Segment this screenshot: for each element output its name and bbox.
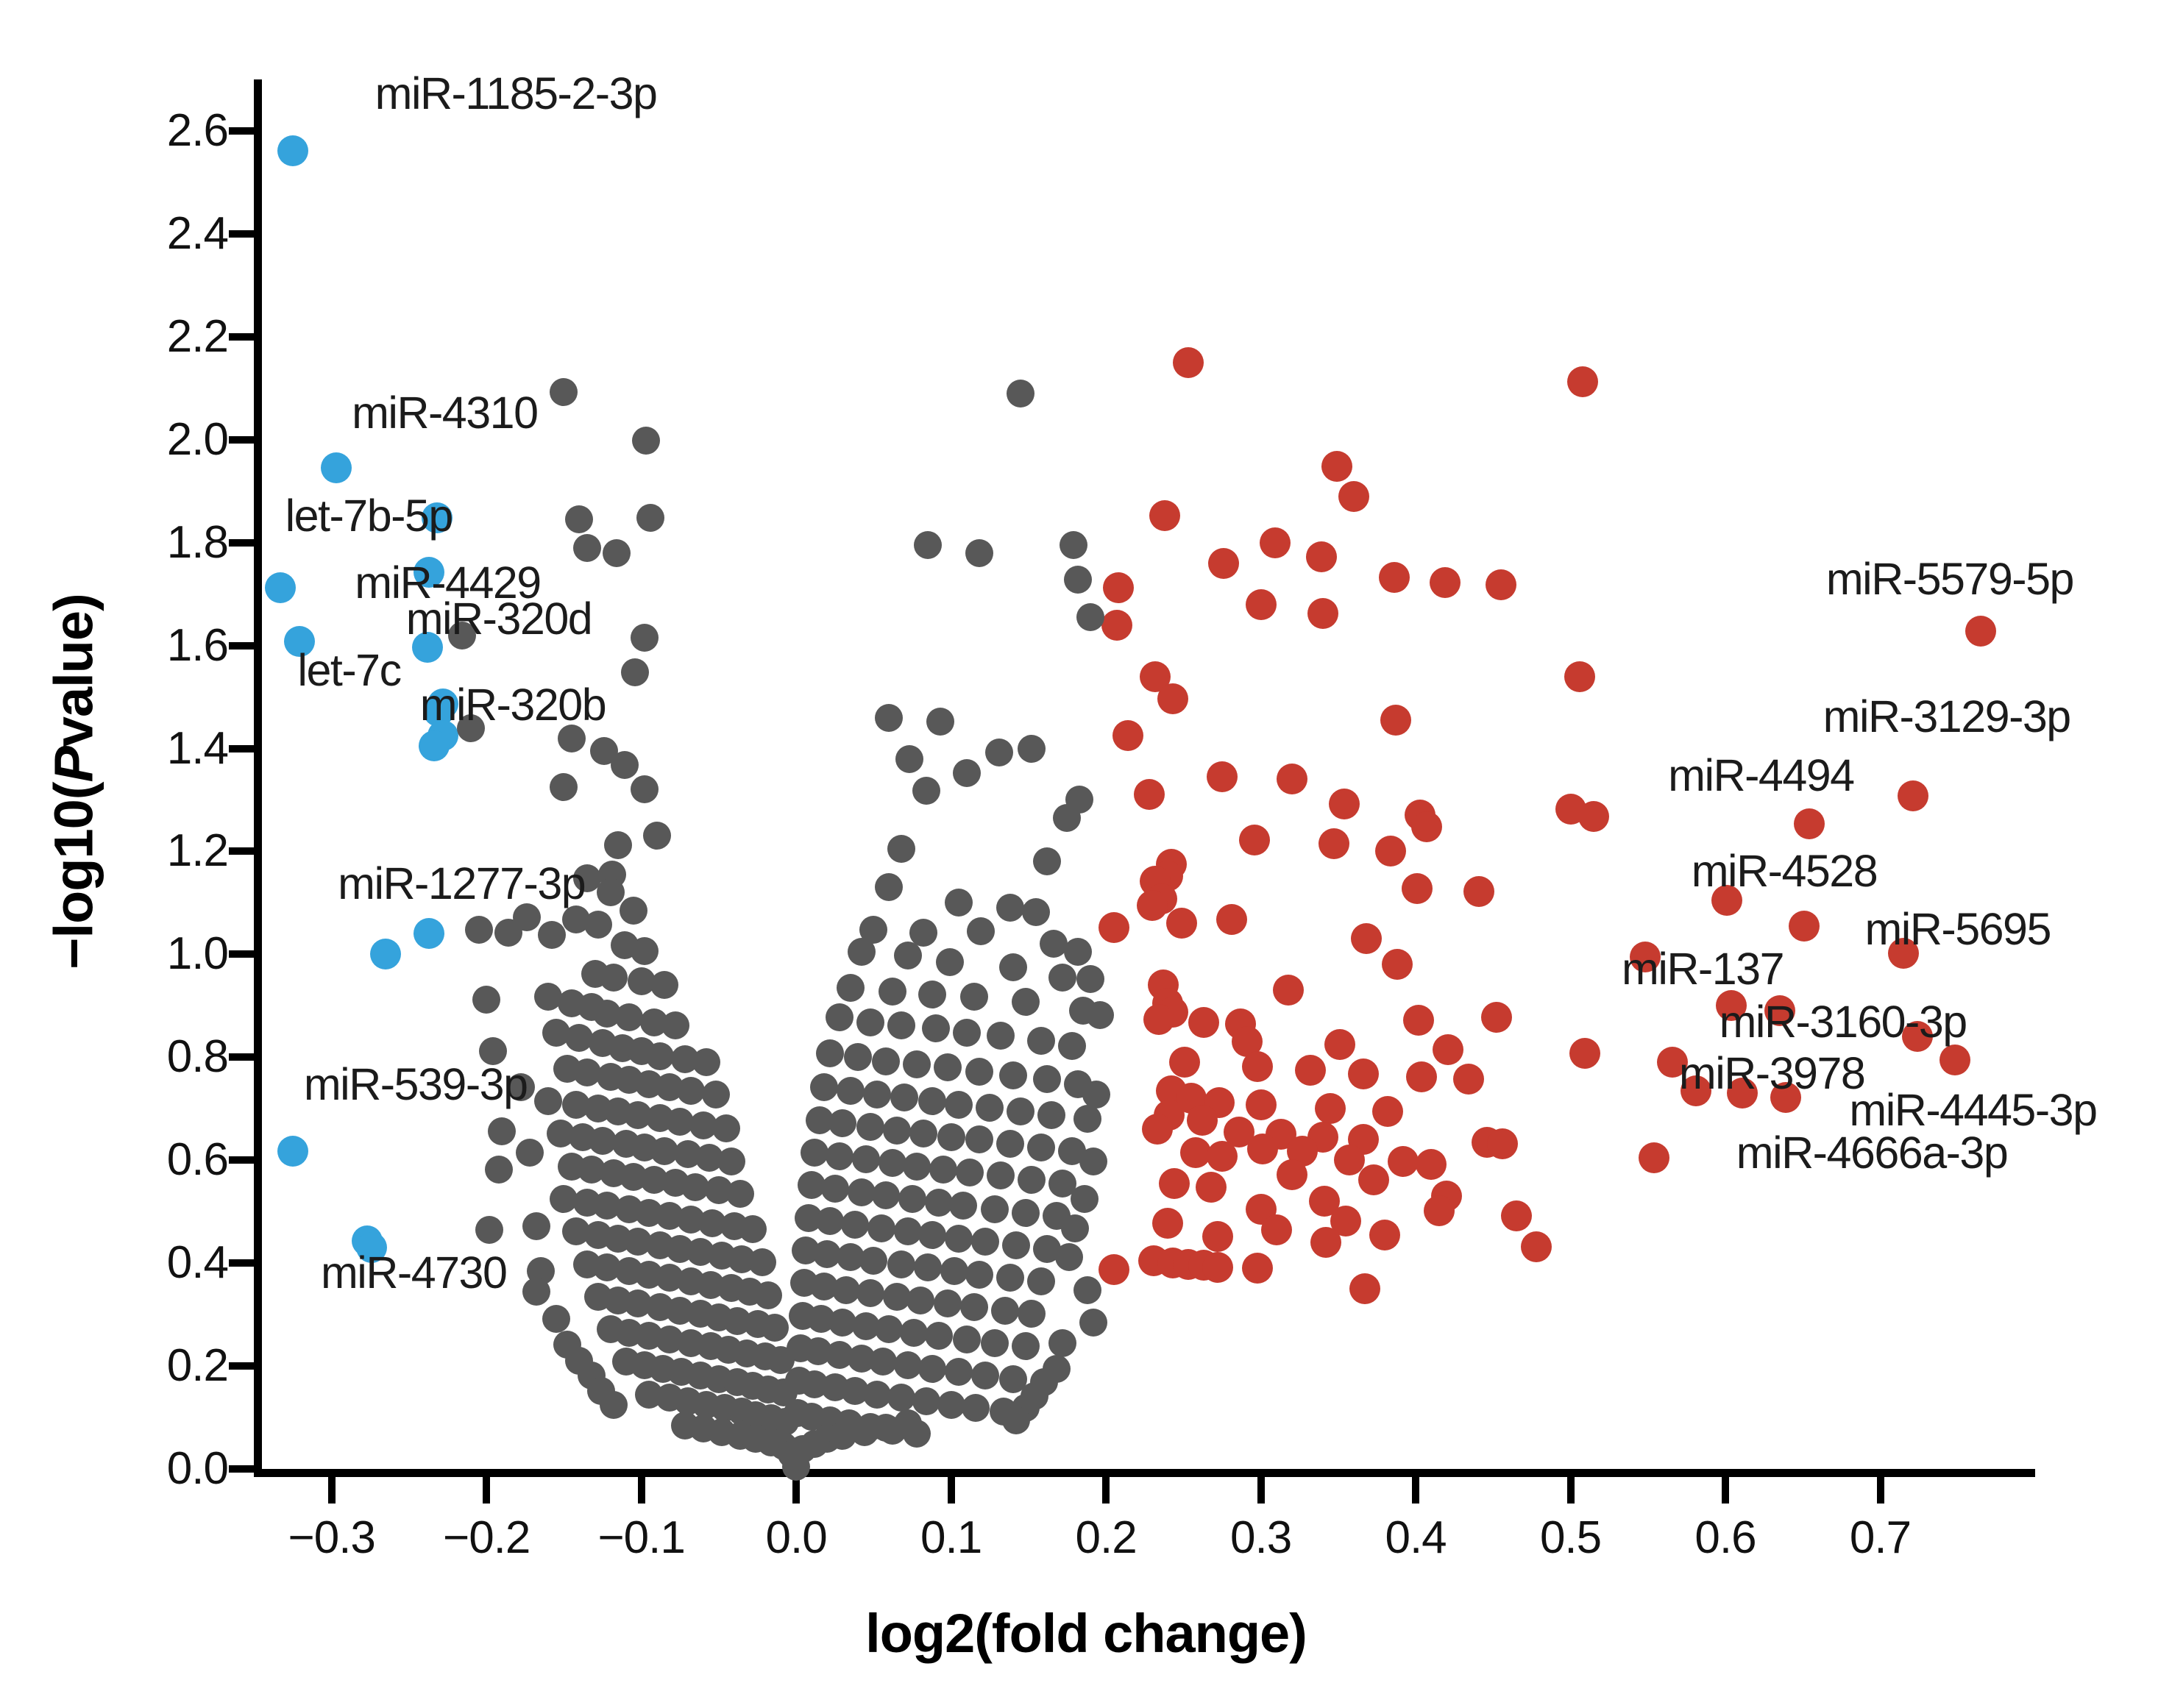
scatter-point <box>887 1011 915 1039</box>
scatter-point <box>1060 531 1087 559</box>
y-tick-mark <box>229 642 255 650</box>
scatter-point <box>1048 964 1076 992</box>
scatter-point <box>1169 1047 1200 1078</box>
scatter-point <box>1002 1231 1030 1259</box>
scatter-point <box>1242 1051 1273 1082</box>
x-tick-label: −0.2 <box>398 1512 575 1564</box>
scatter-point <box>1188 1007 1219 1038</box>
scatter-point <box>926 708 954 736</box>
scatter-point <box>632 427 660 455</box>
scatter-point <box>1007 1097 1034 1125</box>
scatter-point <box>945 1091 973 1119</box>
y-axis-title: −log10(Pvalue) <box>43 267 105 1297</box>
scatter-point <box>1012 988 1040 1016</box>
x-tick-mark <box>1412 1477 1419 1504</box>
scatter-point <box>277 1136 308 1167</box>
scatter-point <box>677 1077 705 1105</box>
x-tick-mark <box>1567 1477 1575 1504</box>
scatter-point <box>837 1077 865 1105</box>
x-tick-mark <box>638 1477 645 1504</box>
scatter-point <box>929 1156 957 1184</box>
scatter-point <box>643 822 671 850</box>
scatter-point <box>1789 911 1820 942</box>
scatter-point <box>534 1087 562 1115</box>
scatter-point <box>987 1022 1015 1050</box>
scatter-point <box>600 1391 628 1419</box>
x-tick-label: 0.3 <box>1173 1512 1349 1564</box>
scatter-point <box>898 1185 926 1213</box>
scatter-point <box>475 1216 503 1244</box>
scatter-point <box>621 658 649 686</box>
scatter-point <box>1277 764 1307 794</box>
point-label: miR-1277-3p <box>338 858 585 909</box>
scatter-point <box>1166 908 1197 939</box>
scatter-point <box>1247 1134 1278 1164</box>
point-label: let-7b-5p <box>285 490 452 541</box>
scatter-point <box>1246 589 1277 620</box>
y-tick-label: 2.4 <box>44 207 228 260</box>
scatter-point <box>826 1003 853 1031</box>
scatter-point <box>934 1053 962 1081</box>
x-axis-title: log2(fold change) <box>0 1602 2172 1665</box>
scatter-point <box>879 1149 906 1177</box>
scatter-point <box>534 983 562 1011</box>
scatter-point <box>1939 1045 1970 1075</box>
scatter-point <box>321 452 352 483</box>
scatter-point <box>863 1081 891 1109</box>
scatter-point <box>1402 873 1433 904</box>
x-tick-label: 0.0 <box>708 1512 884 1564</box>
scatter-point <box>1012 1199 1040 1227</box>
scatter-point <box>1351 923 1382 954</box>
scatter-point <box>1794 808 1825 839</box>
scatter-point <box>485 1156 513 1184</box>
scatter-point <box>953 759 981 787</box>
scatter-point <box>828 1109 856 1137</box>
scatter-point <box>996 1264 1024 1292</box>
scatter-point <box>856 1279 884 1307</box>
scatter-point <box>1521 1231 1552 1262</box>
x-tick-label: 0.2 <box>1018 1512 1194 1564</box>
scatter-point <box>934 1289 962 1317</box>
scatter-point <box>960 983 988 1011</box>
scatter-point <box>1055 1243 1083 1271</box>
scatter-point <box>1567 366 1598 397</box>
scatter-point <box>918 1087 946 1115</box>
y-tick-mark <box>229 436 255 444</box>
y-tick-label: 0.0 <box>44 1442 228 1495</box>
x-tick-mark <box>1102 1477 1110 1504</box>
scatter-point <box>1295 1055 1326 1086</box>
scatter-point <box>542 1305 570 1333</box>
x-tick-mark <box>948 1477 955 1504</box>
scatter-point <box>844 1043 872 1071</box>
scatter-point <box>914 1253 942 1281</box>
scatter-point <box>1369 1220 1400 1250</box>
scatter-point <box>1242 1253 1273 1284</box>
scatter-point <box>1348 1058 1379 1089</box>
scatter-point <box>1639 1142 1669 1173</box>
scatter-point <box>940 1257 968 1285</box>
scatter-point <box>1027 1267 1055 1295</box>
scatter-point <box>872 1047 900 1075</box>
scatter-point <box>875 873 903 901</box>
scatter-point <box>1207 1141 1238 1172</box>
scatter-point <box>987 1161 1015 1189</box>
scatter-point <box>712 1114 740 1142</box>
scatter-point <box>1018 1300 1046 1328</box>
scatter-point <box>1307 598 1338 629</box>
scatter-point <box>650 971 678 999</box>
scatter-point <box>918 981 946 1008</box>
scatter-point <box>945 889 973 917</box>
scatter-point <box>584 911 612 939</box>
scatter-point <box>1379 562 1410 593</box>
scatter-point <box>1071 1185 1099 1213</box>
scatter-point <box>856 1113 884 1141</box>
scatter-point <box>1564 661 1595 692</box>
scatter-point <box>1375 836 1406 867</box>
scatter-point <box>1403 1005 1434 1036</box>
scatter-point <box>1277 1159 1307 1190</box>
scatter-point <box>550 773 578 801</box>
scatter-point <box>1101 610 1132 641</box>
scatter-point <box>848 1178 876 1206</box>
scatter-point <box>1064 938 1092 966</box>
scatter-point <box>887 1250 915 1278</box>
scatter-point <box>883 1117 911 1145</box>
scatter-point <box>981 1195 1009 1223</box>
scatter-point <box>832 1276 860 1304</box>
scatter-point <box>636 504 664 532</box>
y-tick-mark <box>229 127 255 135</box>
scatter-point <box>565 505 593 533</box>
scatter-point <box>1012 1332 1040 1360</box>
scatter-point <box>1246 1089 1277 1120</box>
scatter-point <box>895 745 923 773</box>
scatter-point <box>962 1394 990 1422</box>
scatter-point <box>918 1355 946 1383</box>
scatter-point <box>1207 761 1238 792</box>
scatter-point <box>754 1281 782 1309</box>
scatter-point <box>1079 1147 1107 1175</box>
scatter-point <box>1064 566 1092 594</box>
scatter-point <box>1173 347 1204 378</box>
scatter-point <box>1501 1200 1532 1231</box>
y-axis-title-suffix: value) <box>43 594 104 747</box>
y-tick-mark <box>229 539 255 547</box>
scatter-point <box>1382 949 1413 980</box>
scatter-point <box>603 539 631 567</box>
scatter-point <box>1430 567 1461 598</box>
scatter-point <box>925 1322 953 1350</box>
scatter-point <box>863 1381 891 1409</box>
point-label: miR-320b <box>420 679 606 730</box>
scatter-point <box>894 1351 922 1379</box>
x-tick-mark <box>328 1477 336 1504</box>
scatter-point <box>1048 1329 1076 1357</box>
scatter-point <box>522 1278 550 1306</box>
y-tick-mark <box>229 745 255 752</box>
scatter-point <box>1152 1208 1183 1239</box>
scatter-point <box>867 1214 895 1242</box>
scatter-point <box>985 739 1013 766</box>
scatter-point <box>967 917 995 945</box>
scatter-point <box>1372 1096 1403 1127</box>
scatter-point <box>739 1215 767 1243</box>
scatter-point <box>1319 828 1349 859</box>
scatter-point <box>945 1358 973 1386</box>
scatter-point <box>869 1348 897 1376</box>
scatter-point <box>465 916 493 944</box>
point-label: miR-539-3p <box>304 1058 528 1110</box>
y-tick-label: 2.6 <box>44 104 228 157</box>
scatter-point <box>999 953 1027 981</box>
scatter-point <box>976 1094 1004 1122</box>
scatter-point <box>1033 1065 1061 1093</box>
scatter-point <box>1157 683 1188 714</box>
y-tick-mark <box>229 1465 255 1473</box>
scatter-point <box>1027 1134 1055 1161</box>
scatter-point <box>887 835 915 863</box>
point-label: miR-3160-3p <box>1719 996 1967 1047</box>
scatter-point <box>837 974 865 1002</box>
scatter-point <box>600 964 628 992</box>
scatter-point <box>1137 890 1168 921</box>
scatter-point <box>945 1225 973 1253</box>
scatter-point <box>1324 1029 1355 1060</box>
scatter-point <box>1898 780 1928 811</box>
point-label: miR-4310 <box>352 387 537 438</box>
scatter-point <box>894 1217 922 1245</box>
scatter-point <box>661 1011 689 1039</box>
scatter-point <box>1315 1093 1346 1124</box>
scatter-point <box>801 1139 828 1167</box>
scatter-point <box>852 1145 880 1173</box>
scatter-point <box>887 1384 915 1412</box>
scatter-point <box>912 1387 940 1415</box>
scatter-point <box>516 1139 544 1167</box>
scatter-point <box>894 942 922 969</box>
scatter-point <box>996 1130 1024 1158</box>
scatter-point <box>999 1061 1027 1089</box>
scatter-point <box>821 1175 849 1203</box>
scatter-point <box>573 534 601 562</box>
scatter-point <box>1406 1061 1437 1092</box>
scatter-point <box>1273 975 1304 1006</box>
point-label: miR-5579-5p <box>1826 553 2073 605</box>
scatter-point <box>1380 705 1411 736</box>
scatter-point <box>1424 1195 1455 1226</box>
scatter-point <box>816 1039 844 1067</box>
scatter-point <box>1349 1273 1380 1304</box>
scatter-point <box>936 948 964 976</box>
y-tick-mark <box>229 950 255 958</box>
scatter-point <box>1099 912 1129 943</box>
point-label: miR-5695 <box>1864 903 2050 955</box>
scatter-point <box>748 1248 776 1276</box>
scatter-point <box>1187 1105 1218 1136</box>
scatter-point <box>604 831 632 859</box>
scatter-point <box>522 1212 550 1240</box>
scatter-point <box>1388 1146 1419 1177</box>
scatter-point <box>953 1019 981 1047</box>
scatter-point <box>1411 811 1442 842</box>
x-tick-mark <box>1877 1477 1884 1504</box>
scatter-point <box>1134 779 1165 810</box>
scatter-point <box>1061 1214 1089 1242</box>
y-tick-mark <box>229 230 255 238</box>
scatter-point <box>1033 847 1061 875</box>
point-label: miR-320d <box>406 593 592 644</box>
scatter-point <box>903 1050 931 1078</box>
x-tick-label: 0.7 <box>1792 1512 1969 1564</box>
volcano-plot-figure: 0.00.20.40.60.81.01.21.41.61.82.02.22.42… <box>0 0 2172 1708</box>
scatter-point <box>879 978 906 1006</box>
scatter-point <box>1196 1172 1227 1203</box>
scatter-point <box>615 1003 643 1031</box>
scatter-point <box>991 1297 1019 1325</box>
scatter-point <box>953 1326 981 1353</box>
scatter-point <box>277 135 308 166</box>
scatter-point <box>1239 825 1270 855</box>
scatter-point <box>611 751 639 779</box>
scatter-point <box>472 986 500 1014</box>
scatter-point <box>872 1181 900 1209</box>
scatter-point <box>826 1142 853 1170</box>
scatter-point <box>965 1261 993 1289</box>
scatter-point <box>620 897 647 925</box>
scatter-point <box>937 1123 965 1151</box>
scatter-point <box>937 1391 965 1419</box>
scatter-point <box>1079 1309 1107 1337</box>
scatter-point <box>996 894 1024 922</box>
scatter-point <box>1142 1114 1173 1145</box>
point-label: miR-4494 <box>1668 750 1853 801</box>
scatter-point <box>1965 616 1996 647</box>
scatter-point <box>597 878 625 906</box>
scatter-point <box>1310 1227 1341 1258</box>
x-tick-mark <box>792 1477 800 1504</box>
scatter-point <box>1076 603 1104 631</box>
scatter-point <box>631 775 659 803</box>
scatter-point <box>922 1014 950 1042</box>
scatter-point <box>1143 1004 1174 1035</box>
scatter-point <box>875 1315 903 1343</box>
scatter-point <box>631 937 659 965</box>
scatter-point <box>1037 1101 1065 1129</box>
x-tick-label: 0.5 <box>1483 1512 1659 1564</box>
scatter-point <box>1260 527 1291 558</box>
scatter-point <box>702 1081 730 1109</box>
scatter-point <box>717 1147 745 1175</box>
point-label: let-7c <box>297 644 400 696</box>
scatter-point <box>761 1314 789 1342</box>
point-label: miR-3129-3p <box>1823 691 2070 742</box>
scatter-point <box>1018 735 1046 763</box>
scatter-point <box>1053 804 1081 832</box>
scatter-point <box>856 1008 884 1036</box>
x-tick-mark <box>1257 1477 1265 1504</box>
scatter-point <box>1040 930 1068 958</box>
y-tick-mark <box>229 333 255 341</box>
scatter-point <box>875 704 903 732</box>
scatter-point <box>918 1221 946 1249</box>
scatter-point <box>1306 541 1337 572</box>
scatter-point <box>1002 1406 1030 1434</box>
scatter-point <box>1486 569 1516 600</box>
scatter-point <box>1329 789 1360 819</box>
x-tick-label: −0.1 <box>553 1512 730 1564</box>
x-tick-label: 0.1 <box>863 1512 1040 1564</box>
scatter-point <box>1027 1027 1055 1055</box>
scatter-point <box>726 1180 754 1208</box>
y-tick-label: 0.2 <box>44 1339 228 1392</box>
x-tick-mark <box>1722 1477 1729 1504</box>
scatter-point <box>1022 898 1050 926</box>
scatter-point <box>1453 1064 1484 1095</box>
y-axis-line <box>254 79 262 1477</box>
scatter-point <box>981 1329 1009 1357</box>
y-tick-mark <box>229 1156 255 1164</box>
scatter-point <box>816 1207 844 1235</box>
scatter-point <box>894 1409 922 1437</box>
y-tick-mark <box>229 1362 255 1370</box>
scatter-point <box>1073 1105 1101 1133</box>
scatter-point <box>903 1153 931 1181</box>
scatter-point <box>1481 1002 1512 1033</box>
point-label: miR-4666a-3p <box>1736 1127 2008 1178</box>
scatter-point <box>909 1120 937 1147</box>
scatter-point <box>965 1058 993 1086</box>
scatter-point <box>692 1048 720 1076</box>
scatter-point <box>900 1319 928 1347</box>
scatter-point <box>841 1211 869 1239</box>
x-tick-mark <box>483 1477 490 1504</box>
scatter-point <box>912 777 940 805</box>
y-tick-mark <box>229 1259 255 1267</box>
scatter-point <box>1099 1254 1129 1285</box>
point-label: miR-4730 <box>321 1247 506 1298</box>
scatter-point <box>1149 500 1180 531</box>
point-label: miR-3978 <box>1679 1047 1864 1099</box>
scatter-point <box>1112 720 1143 751</box>
point-label: miR-1185-2-3p <box>375 68 657 119</box>
y-tick-mark <box>229 847 255 855</box>
scatter-point <box>1058 1032 1086 1060</box>
scatter-point <box>646 1042 674 1070</box>
scatter-point <box>960 1293 988 1321</box>
x-tick-label: −0.3 <box>244 1512 420 1564</box>
x-tick-label: 0.6 <box>1637 1512 1814 1564</box>
scatter-point <box>1487 1128 1518 1159</box>
scatter-point <box>1086 1001 1114 1029</box>
scatter-point <box>631 624 659 652</box>
scatter-point <box>1103 572 1134 603</box>
scatter-point <box>810 1073 838 1101</box>
scatter-point <box>848 938 876 966</box>
scatter-point <box>494 919 522 947</box>
x-axis-line <box>254 1469 2035 1477</box>
scatter-point <box>971 1228 999 1256</box>
scatter-point <box>914 531 942 559</box>
y-axis-title-prefix: −log10( <box>43 783 104 969</box>
point-label: miR-4528 <box>1692 845 1877 897</box>
y-axis-title-italic-p: P <box>43 747 104 782</box>
scatter-point <box>1416 1149 1447 1180</box>
scatter-point <box>1338 481 1369 512</box>
scatter-point <box>414 918 444 949</box>
